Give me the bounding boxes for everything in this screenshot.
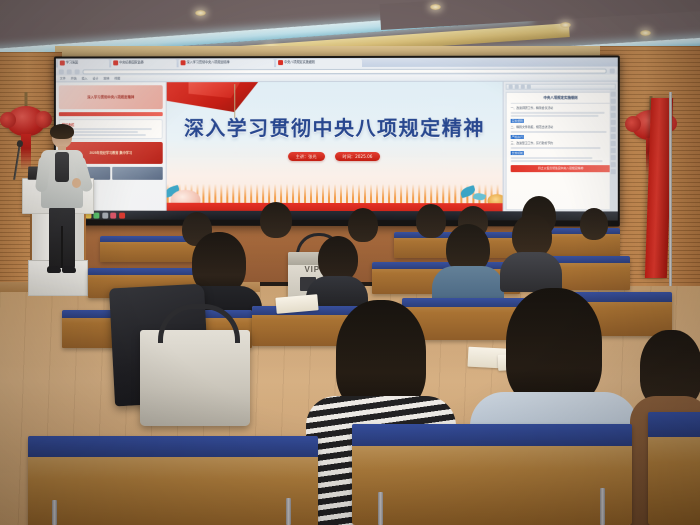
doc-print-icon[interactable] [515, 85, 519, 89]
ribbon-item[interactable]: 视图 [114, 76, 120, 80]
tab-favicon-icon [278, 60, 283, 65]
tab-label: 深入学习贯彻中央八项规定精神 [187, 61, 230, 64]
slide-flagpole-icon [234, 84, 235, 118]
speaker-hand [72, 178, 81, 188]
seat-back-foreground [28, 436, 318, 525]
ribbon-item[interactable]: 开始 [71, 76, 77, 80]
tab-favicon-icon [113, 60, 118, 65]
ribbon-item[interactable]: 文件 [60, 76, 66, 80]
document-page: 中央八项规定实施细则 一、改进调研工作，精简会议活动 实施细则 二、精简文件简报… [506, 92, 616, 211]
lecture-hall-photo: 学习强国 中央纪委国家监委 深入学习贯彻中央八项规定精神 中央八项规定实施细则 [0, 0, 700, 525]
reload-icon[interactable] [75, 69, 80, 74]
tab-favicon-icon [60, 61, 65, 66]
forward-icon[interactable] [67, 69, 72, 74]
doc-search-icon[interactable] [527, 85, 531, 89]
seat-leg [286, 498, 291, 525]
slide-canvas: 深入学习贯彻中央八项规定精神 主讲：张光 时间：2025.06 [167, 82, 503, 221]
document-footer-banner: 持之以恒贯彻落实中央八项规定精神 [511, 165, 611, 172]
seat-back-foreground [648, 412, 700, 525]
menu-icon[interactable] [610, 68, 615, 73]
slide-skyline-graphic-icon [167, 184, 503, 204]
white-tote-bag [140, 330, 250, 426]
speaker-shoe [62, 266, 76, 273]
document-title: 中央八项规定实施细则 [511, 96, 611, 101]
seat-back-foreground [352, 424, 632, 525]
ribbon-item[interactable]: 设计 [92, 76, 98, 80]
webpage-divider [59, 112, 163, 116]
tab-label: 学习强国 [66, 61, 78, 64]
presentation-pane[interactable]: 深入学习贯彻中央八项规定精神 主讲：张光 时间：2025.06 [167, 82, 503, 221]
slide-presenter-badge: 主讲：张光 [288, 152, 325, 161]
browser-tab[interactable]: 中央纪委国家监委 [111, 59, 176, 67]
messages-icon[interactable] [93, 212, 99, 218]
document-paragraph: 一、改进调研工作，精简会议活动 [511, 106, 611, 110]
speaker-presenter [36, 126, 94, 286]
seat-leg [52, 500, 57, 525]
tab-favicon-icon [181, 60, 186, 65]
document-highlight: 实施细则 [511, 119, 524, 123]
flag-pole [669, 92, 672, 302]
document-paragraph: 二、精简文件简报，规范出访活动 [511, 125, 611, 129]
attendee [574, 208, 618, 248]
webpage-hero-title: 深入学习贯彻中央八项规定精神 [83, 95, 138, 99]
webpage-banner-title: 2025年党纪学习教育 集中学习 [89, 151, 132, 155]
tab-label: 中央纪委国家监委 [119, 61, 143, 64]
media-icon[interactable] [110, 212, 116, 218]
doc-save-icon[interactable] [509, 85, 513, 89]
back-icon[interactable] [59, 69, 64, 74]
slide-date-badge: 时间：2025.06 [335, 152, 381, 161]
thumbnail[interactable] [112, 167, 163, 180]
doc-zoom-icon[interactable] [521, 85, 525, 89]
office-icon[interactable] [119, 212, 125, 218]
slide-title: 深入学习贯彻中央八项规定精神 [167, 118, 503, 138]
ribbon-item[interactable]: 放映 [103, 76, 109, 80]
address-bar[interactable] [83, 68, 607, 74]
speaker-hair [50, 124, 74, 139]
slide-meta-badges: 主讲：张光 时间：2025.06 [167, 152, 503, 161]
browser-tab[interactable]: 中央八项规定实施细则 [276, 58, 362, 66]
settings-icon[interactable] [102, 212, 108, 218]
webpage-hero: 深入学习贯彻中央八项规定精神 [59, 85, 163, 109]
ribbon-item[interactable]: 插入 [82, 76, 88, 80]
browser-tab[interactable]: 深入学习贯彻中央八项规定精神 [179, 59, 274, 67]
seat-leg [600, 488, 605, 525]
seat-leg [378, 492, 383, 525]
document-paragraph: 三、改进警卫工作，厉行勤俭节约 [511, 141, 611, 145]
attendee [498, 214, 564, 290]
document-toolbar[interactable] [506, 84, 616, 90]
document-sidebar-thumbnails[interactable] [610, 90, 617, 219]
speaker-inner-top [55, 152, 69, 182]
document-highlight: 严格执行 [511, 135, 524, 139]
document-highlight: 长效机制 [511, 151, 524, 155]
speaker-shoe [47, 266, 61, 273]
speaker-leg-split [61, 226, 63, 268]
tab-label: 中央八项规定实施细则 [284, 61, 315, 64]
browser-tab[interactable]: 学习强国 [58, 59, 109, 67]
